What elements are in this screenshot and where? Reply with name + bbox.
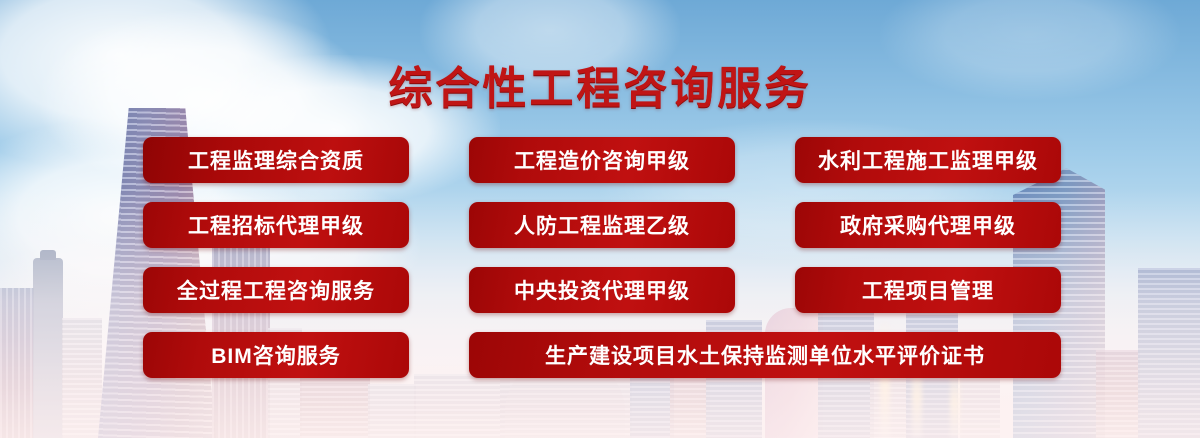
building — [62, 318, 102, 438]
qualification-badge[interactable]: 水利工程施工监理甲级 — [795, 137, 1061, 183]
building — [368, 384, 416, 438]
qualification-badge[interactable]: 工程招标代理甲级 — [143, 202, 409, 248]
building — [1138, 268, 1200, 438]
qualification-badge[interactable]: BIM咨询服务 — [143, 332, 409, 378]
building-tower-thin — [33, 258, 63, 438]
qualification-badge[interactable]: 工程造价咨询甲级 — [469, 137, 735, 183]
building — [414, 374, 510, 438]
qualification-badge[interactable]: 政府采购代理甲级 — [795, 202, 1061, 248]
page-title: 综合性工程咨询服务 — [0, 52, 1200, 116]
qualification-grid: 工程监理综合资质 工程造价咨询甲级 水利工程施工监理甲级 工程招标代理甲级 人防… — [143, 137, 1064, 378]
building — [670, 368, 710, 438]
building — [0, 288, 34, 438]
qualification-badge[interactable]: 中央投资代理甲级 — [469, 267, 735, 313]
qualification-badge[interactable]: 工程项目管理 — [795, 267, 1061, 313]
qualification-badge[interactable]: 工程监理综合资质 — [143, 137, 409, 183]
qualification-badge[interactable]: 人防工程监理乙级 — [469, 202, 735, 248]
building — [500, 378, 632, 438]
building — [1096, 350, 1140, 438]
qualification-badge-wide[interactable]: 生产建设项目水土保持监测单位水平评价证书 — [469, 332, 1061, 378]
qualification-badge[interactable]: 全过程工程咨询服务 — [143, 267, 409, 313]
promo-banner: 综合性工程咨询服务 工程监理综合资质 工程造价咨询甲级 水利工程施工监理甲级 工… — [0, 0, 1200, 438]
